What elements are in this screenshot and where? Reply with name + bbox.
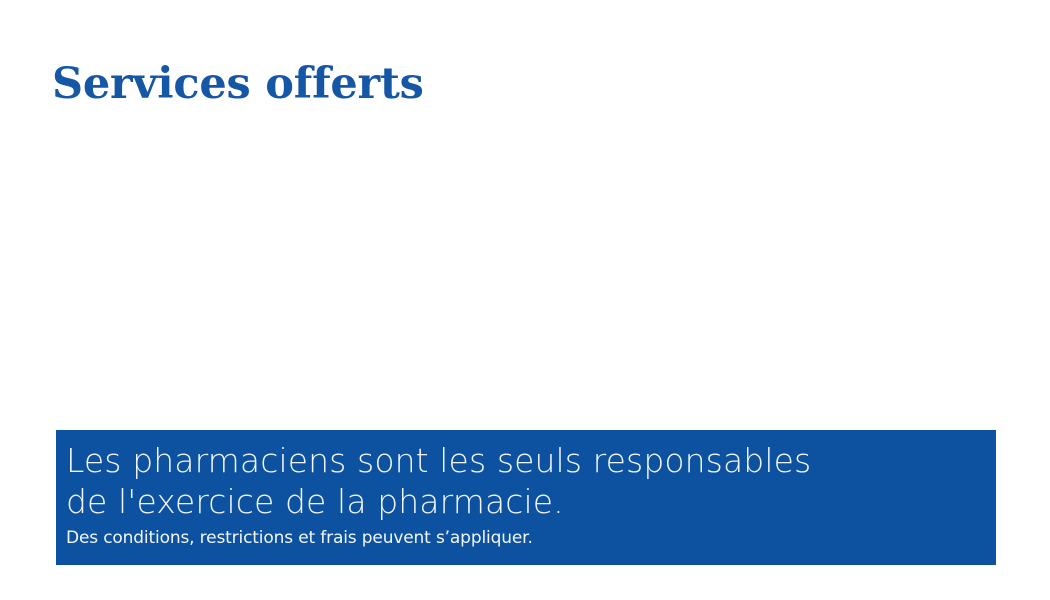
slide-canvas: Services offerts Les pharmaciens sont le… bbox=[0, 0, 1050, 600]
callout-headline-line-1: Les pharmaciens sont les seuls responsab… bbox=[66, 440, 984, 481]
callout-banner: Les pharmaciens sont les seuls responsab… bbox=[56, 430, 996, 565]
callout-headline-line-2: de l'exercice de la pharmacie. bbox=[66, 481, 984, 522]
page-title: Services offerts bbox=[52, 59, 424, 109]
callout-headline: Les pharmaciens sont les seuls responsab… bbox=[66, 440, 984, 522]
callout-subnote: Des conditions, restrictions et frais pe… bbox=[66, 526, 984, 550]
slide-content-area bbox=[56, 130, 996, 420]
